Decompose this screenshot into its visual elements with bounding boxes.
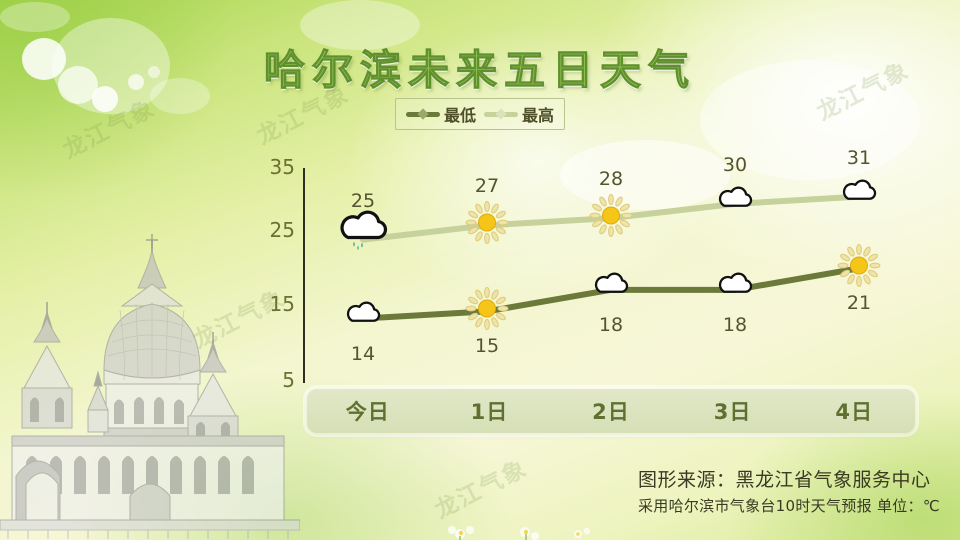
y-tick-5: 5 <box>255 368 295 392</box>
x-label-today: 今日 <box>307 396 429 426</box>
footer: 图形来源：黑龙江省气象服务中心 采用哈尔滨市气象台10时天气预报 单位：℃ <box>638 465 940 516</box>
decorative-flowers <box>430 500 570 540</box>
value-label-最高-3: 30 <box>723 154 747 176</box>
sun-marker <box>836 243 882 294</box>
sun-marker <box>464 200 510 251</box>
decorative-flowers <box>560 514 620 540</box>
legend-marker-diamond-icon <box>495 108 506 119</box>
rain-cloud-icon <box>337 210 389 252</box>
sun-icon <box>836 243 882 289</box>
sun-icon <box>464 286 510 332</box>
chart-markers-layer: 25272830311415181821 <box>303 150 923 400</box>
weather-forecast-graphic: 龙江气象 龙江气象 龙江气象 龙江气象 龙江气象 <box>0 0 960 540</box>
cloud-icon <box>833 179 885 209</box>
x-axis-label-bar: 今日 1日 2日 3日 4日 <box>307 389 915 433</box>
legend-swatch-min <box>406 112 440 117</box>
cloud-marker <box>337 301 389 336</box>
decorative-bubble <box>0 2 70 32</box>
legend-label-min: 最低 <box>444 102 476 126</box>
value-label-最高-0: 25 <box>351 190 375 212</box>
value-label-最低-2: 18 <box>599 314 623 336</box>
rain-cloud-marker <box>337 210 389 257</box>
sun-marker <box>588 193 634 244</box>
y-tick-25: 25 <box>255 218 295 242</box>
value-label-最低-4: 21 <box>847 292 871 314</box>
cloud-marker <box>709 186 761 221</box>
cloud-icon <box>709 272 761 302</box>
x-label-day1: 1日 <box>429 396 551 426</box>
sun-icon <box>588 193 634 239</box>
value-label-最低-1: 15 <box>475 335 499 357</box>
legend-label-max: 最高 <box>522 102 554 126</box>
cloud-marker <box>585 272 637 307</box>
cloud-icon <box>709 186 761 216</box>
page-title: 哈尔滨未来五日天气 <box>0 36 960 96</box>
watermark: 龙江气象 <box>56 89 161 165</box>
legend-marker-diamond-icon <box>417 108 428 119</box>
legend-item-min: 最低 <box>406 102 476 126</box>
legend-item-max: 最高 <box>484 102 554 126</box>
value-label-最高-4: 31 <box>847 147 871 169</box>
legend-swatch-max <box>484 112 518 117</box>
chart-plot-area: 25272830311415181821 <box>303 150 923 400</box>
cloud-icon <box>585 272 637 302</box>
chart-legend: 最低 最高 <box>395 98 565 130</box>
value-label-最低-3: 18 <box>723 314 747 336</box>
footer-source: 图形来源：黑龙江省气象服务中心 <box>638 465 940 492</box>
cloud-marker <box>833 179 885 214</box>
y-tick-15: 15 <box>255 292 295 316</box>
cloud-marker <box>709 272 761 307</box>
cloud-icon <box>337 301 389 331</box>
x-label-day4: 4日 <box>793 396 915 426</box>
footer-note: 采用哈尔滨市气象台10时天气预报 单位：℃ <box>638 495 940 516</box>
value-label-最高-1: 27 <box>475 175 499 197</box>
y-tick-35: 35 <box>255 155 295 179</box>
value-label-最低-0: 14 <box>351 343 375 365</box>
x-label-day3: 3日 <box>672 396 794 426</box>
sun-marker <box>464 286 510 337</box>
sun-icon <box>464 200 510 246</box>
x-label-day2: 2日 <box>550 396 672 426</box>
value-label-最高-2: 28 <box>599 168 623 190</box>
